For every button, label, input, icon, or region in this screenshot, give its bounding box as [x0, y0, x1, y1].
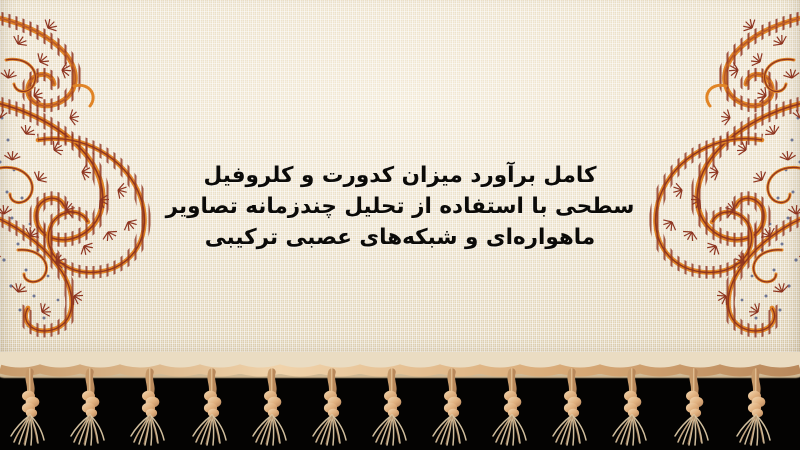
page-title: کامل برآورد میزان کدورت و کلروفیل سطحی ب… [0, 160, 800, 253]
title-line-1: کامل برآورد میزان کدورت و کلروفیل [0, 160, 800, 191]
title-card-canvas: کامل برآورد میزان کدورت و کلروفیل سطحی ب… [0, 0, 800, 450]
title-line-3: ماهواره‌ای و شبکه‌های عصبی ترکیبی [0, 222, 800, 253]
knotted-tassel-fringe [0, 352, 800, 450]
title-line-2: سطحی با استفاده از تحلیل چندزمانه تصاویر [0, 191, 800, 222]
